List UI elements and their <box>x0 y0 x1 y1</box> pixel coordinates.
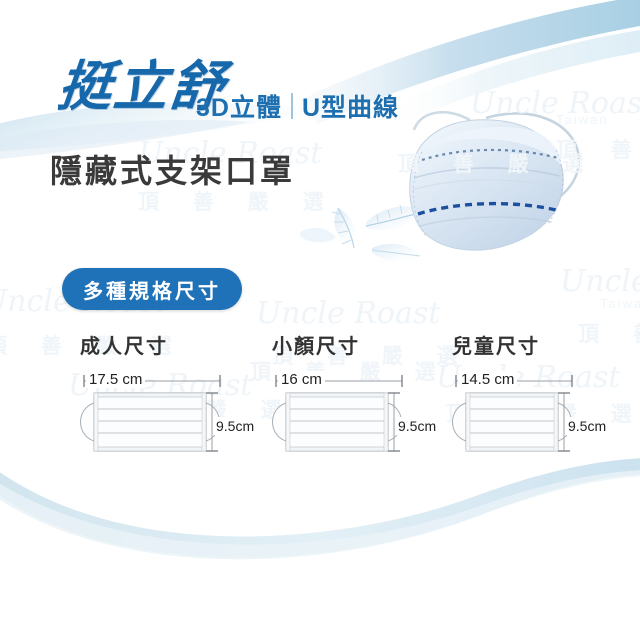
watermark-script-sub-1: Taiwan <box>556 112 608 127</box>
mask-diagram: 17.5 cm 9.5cm <box>78 371 278 459</box>
watermark-script-5: Uncle Roast <box>560 264 640 299</box>
height-dimension-label: 9.5cm <box>214 417 256 435</box>
mask-diagram: 16 cm 9.5cm <box>270 371 470 459</box>
product-photo-mask <box>410 112 579 250</box>
size-column-adult: 成人尺寸 17.5 cm 9.5cm <box>78 330 278 459</box>
size-title: 成人尺寸 <box>80 330 278 359</box>
tagline-left: 3D立體 <box>196 88 282 124</box>
size-title: 小顏尺寸 <box>272 330 470 359</box>
advertisement-canvas: Uncle Roast Taiwan 頂 善 嚴 選 Uncle Roast 頂… <box>0 0 640 640</box>
tagline: 3D立體 U型曲線 <box>196 88 399 124</box>
feather-icon-4 <box>300 228 336 243</box>
multi-size-badge-label: 多種規格尺寸 <box>83 275 221 304</box>
size-column-children: 兒童尺寸 14.5 cm 9.5cm <box>450 330 640 459</box>
multi-size-badge: 多種規格尺寸 <box>62 268 242 310</box>
feather-icon-2 <box>366 202 424 230</box>
watermark-script-sub-2: Taiwan <box>600 296 640 311</box>
watermark-cjk-1: 頂 善 嚴 選 <box>556 134 640 164</box>
watermark-script-4: Uncle Roast <box>256 296 440 331</box>
feather-icon-3 <box>372 244 420 262</box>
bottom-wave-decor <box>0 458 640 559</box>
tagline-separator <box>291 93 293 119</box>
watermark-script-1: Uncle Roast <box>470 86 640 121</box>
width-dimension-label: 16 cm <box>278 371 325 388</box>
size-column-small-face: 小顏尺寸 16 cm 9.5cm <box>270 330 470 459</box>
width-dimension-label: 14.5 cm <box>458 371 517 388</box>
size-title: 兒童尺寸 <box>452 330 640 359</box>
height-dimension-label: 9.5cm <box>396 417 438 435</box>
height-dimension-label: 9.5cm <box>566 417 608 435</box>
mask-diagram: 14.5 cm 9.5cm <box>450 371 640 459</box>
watermark-cjk-2: 頂 善 嚴 選 <box>398 148 598 178</box>
width-dimension-label: 17.5 cm <box>86 371 145 388</box>
product-name: 隱藏式支架口罩 <box>50 146 295 192</box>
feather-icon-1 <box>332 208 356 248</box>
tagline-right: U型曲線 <box>302 88 399 124</box>
